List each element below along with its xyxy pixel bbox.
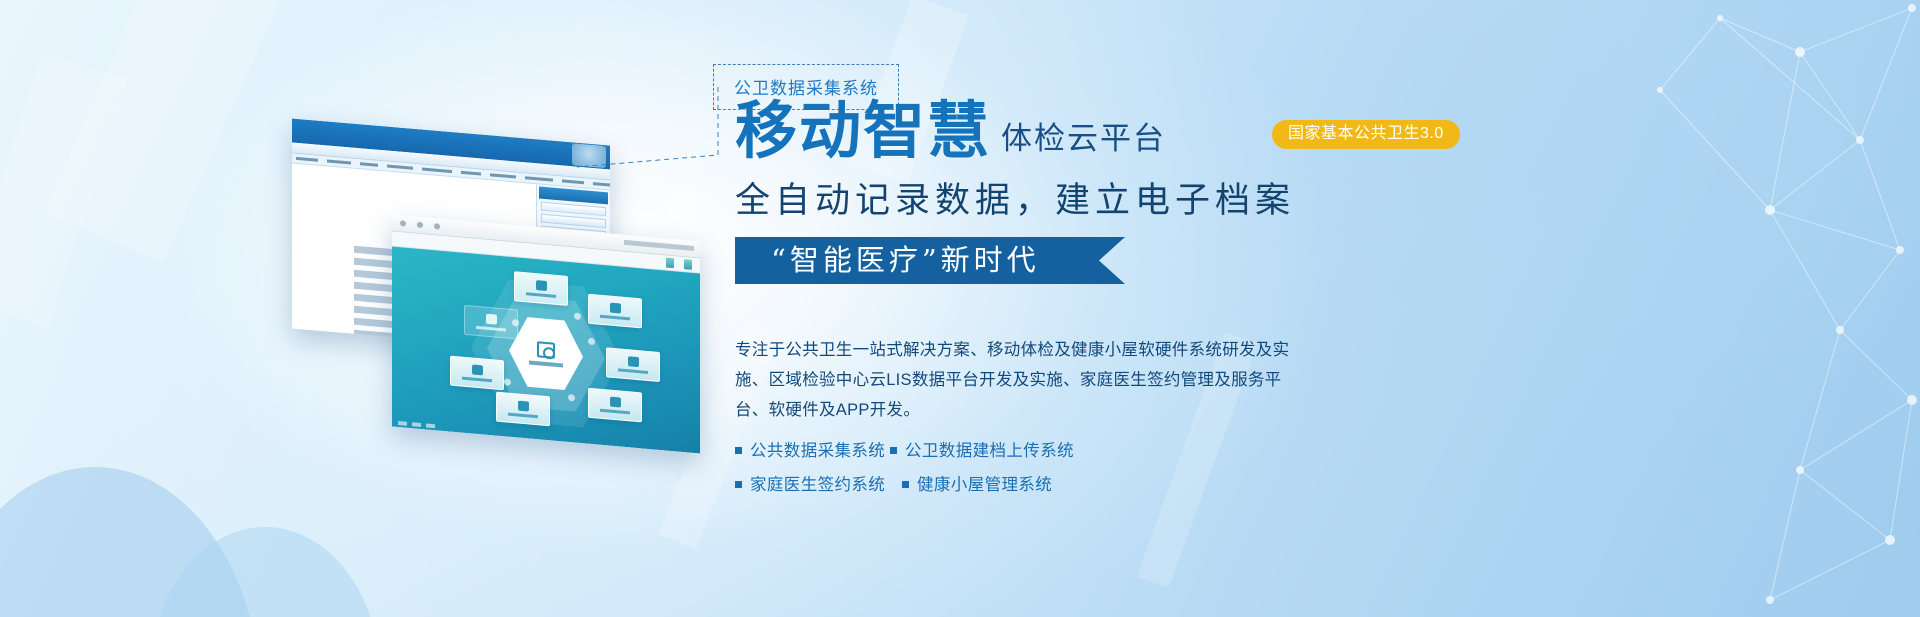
dashboard-node[interactable] [588,294,642,329]
hero-content: 移动智慧体检云平台 国家基本公共卫生3.0 全自动记录数据，建立电子档案 “智能… [735,100,1855,499]
list-item-label: 健康小屋管理系统 [917,471,1052,499]
screenshot-dashboard [392,214,700,453]
dashboard-node[interactable] [588,388,642,423]
dashboard-canvas [392,246,700,453]
list-item[interactable]: 公卫数据建档上传系统 [890,437,1074,465]
ribbon-wrap: “智能医疗”新时代 [735,237,1135,289]
web-avatar [572,143,606,168]
bullet-square-icon [890,447,897,454]
dashboard-node[interactable] [464,305,518,340]
dashboard-node[interactable] [450,356,504,391]
page-title-sub: 体检云平台 [1001,113,1166,158]
banner-root: 公卫数据采集系统 移动智慧体检云平台 国家基本公共卫生3.0 全自动记录数据，建… [0,0,1920,617]
window-bar-text [624,240,694,251]
ribbon-tagline: “智能医疗”新时代 [735,237,1125,284]
window-controls [400,220,440,230]
dashboard-node[interactable] [496,392,550,427]
list-item-label: 家庭医生签约系统 [750,471,885,499]
page-subtitle: 全自动记录数据，建立电子档案 [735,172,1855,223]
web-title-text [551,144,554,153]
bottom-left-blob-2 [150,527,380,617]
bullet-square-icon [735,481,742,488]
light-streak-1 [45,0,286,263]
title-row: 移动智慧体检云平台 国家基本公共卫生3.0 [735,100,1855,166]
list-item[interactable]: 健康小屋管理系统 [902,471,1052,499]
product-screenshots [280,120,750,460]
list-item[interactable]: 家庭医生签约系统 [735,471,890,499]
page-title-main: 移动智慧 [735,100,991,162]
description-paragraph: 专注于公共卫生一站式解决方案、移动体检及健康小屋软硬件系统研发及实施、区域检验中… [735,335,1315,425]
list-item-label: 公卫数据建档上传系统 [905,437,1074,465]
list-item[interactable]: 公共数据采集系统 [735,437,890,465]
dashboard-node[interactable] [514,271,568,306]
dashboard-node[interactable] [606,347,660,382]
dashboard-footer-icons [398,421,435,428]
bullet-square-icon [902,481,909,488]
feature-row: 家庭医生签约系统 健康小屋管理系统 [735,471,1155,499]
hex-center-icon [537,341,555,359]
feature-row: 公共数据采集系统 公卫数据建档上传系统 [735,437,1155,465]
hex-center-label [529,360,563,367]
bottom-left-blob-1 [0,467,260,617]
feature-list: 公共数据采集系统 公卫数据建档上传系统 家庭医生签约系统 健康小屋管理系统 [735,437,1155,499]
dashboard-quick-icons [666,258,692,270]
bullet-square-icon [735,447,742,454]
status-badge: 国家基本公共卫生3.0 [1272,120,1460,149]
list-item-label: 公共数据采集系统 [750,437,885,465]
light-streak-2 [0,52,128,327]
